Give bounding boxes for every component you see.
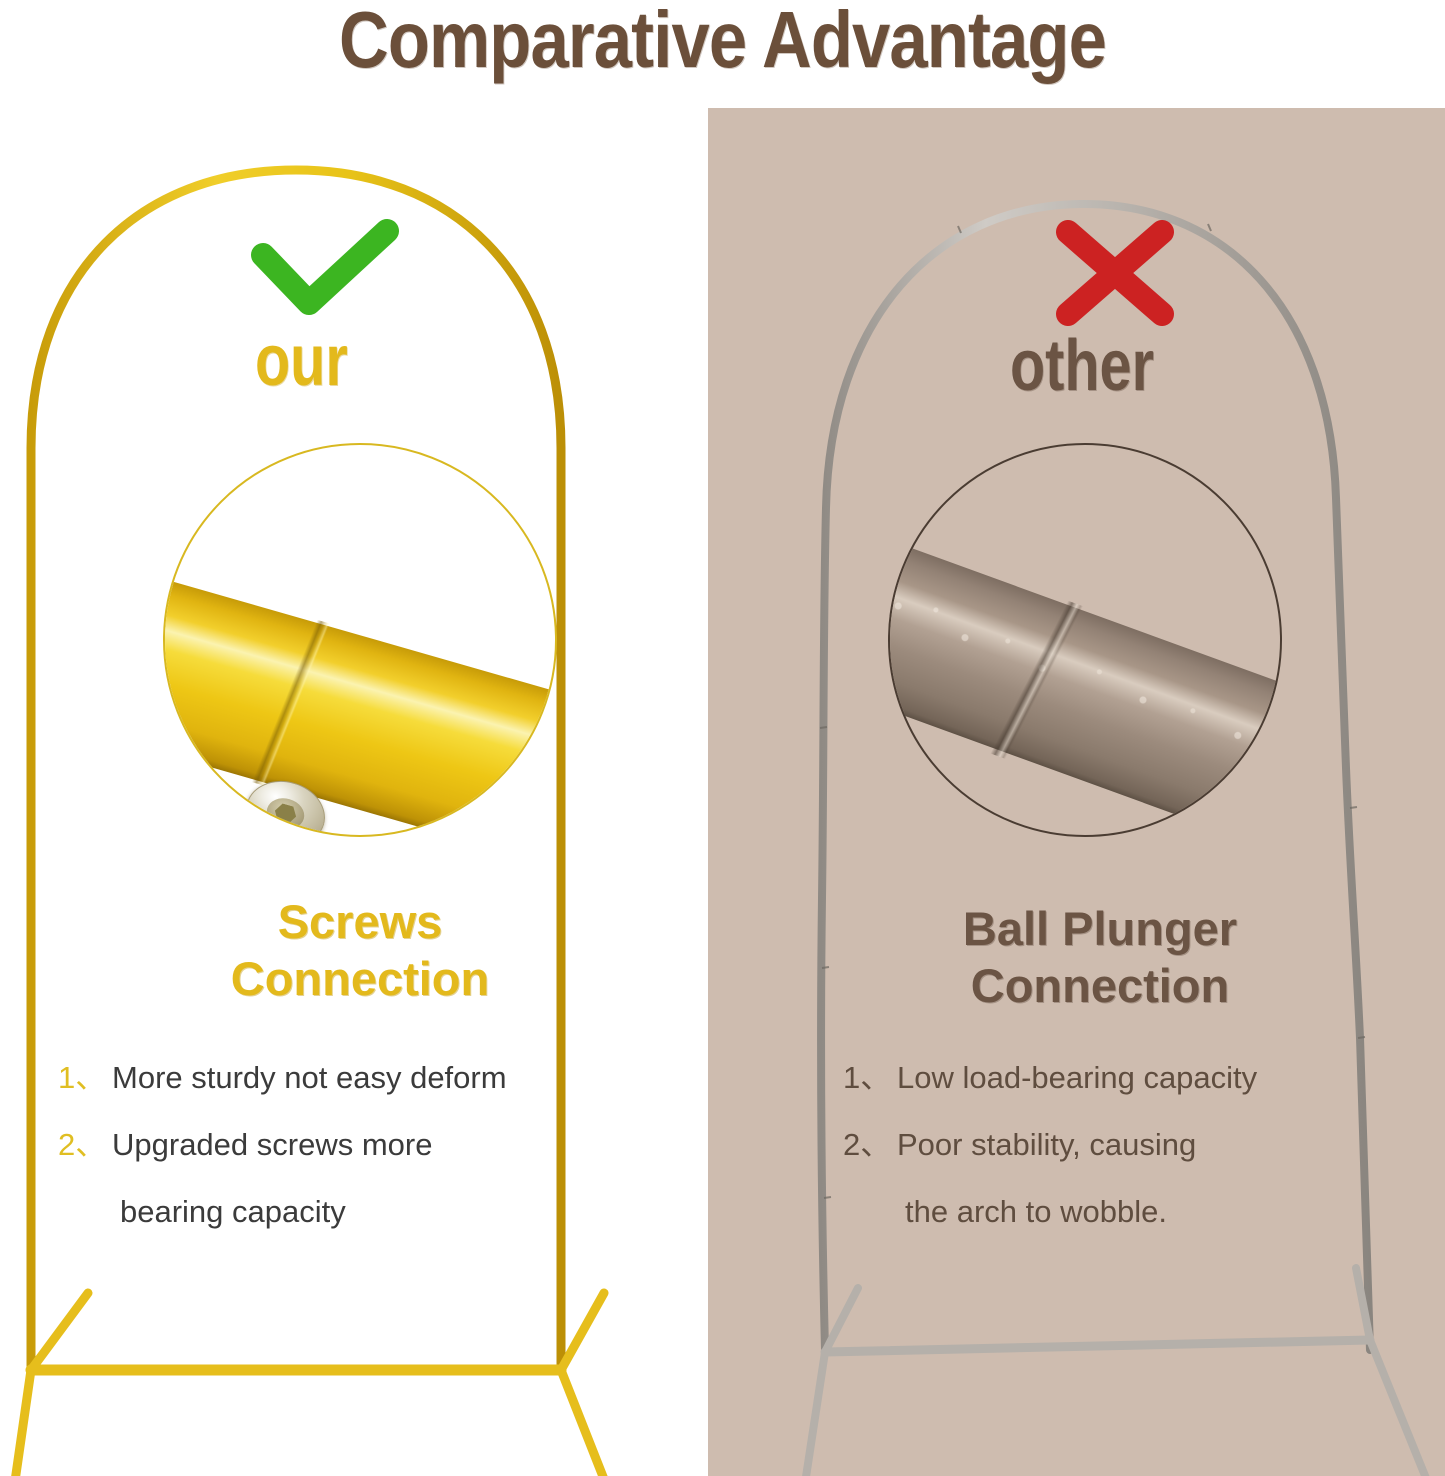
page-title: Comparative Advantage <box>101 0 1344 82</box>
list-item: 2、 Poor stability, causing <box>843 1129 1383 1160</box>
list-item-number: 2、 <box>58 1129 112 1160</box>
list-item-continuation: the arch to wobble. <box>905 1196 1383 1227</box>
red-cross-icon <box>1035 218 1195 328</box>
list-item: 1、 Low load-bearing capacity <box>843 1062 1383 1093</box>
list-item-text: More sturdy not easy deform <box>112 1062 658 1093</box>
left-benefits-list: 1、 More sturdy not easy deform 2、 Upgrad… <box>58 1062 658 1257</box>
tube-joint-seam <box>252 620 330 786</box>
green-check-icon <box>245 215 405 325</box>
screw-connection-detail-photo <box>163 443 557 837</box>
brand-label-other: other <box>1010 330 1154 402</box>
list-item-text: Upgraded screws more <box>112 1129 658 1160</box>
gray-tube <box>888 527 1282 837</box>
yellow-tube-photo <box>165 445 555 835</box>
list-item-number: 2、 <box>843 1129 897 1160</box>
list-item-text: Poor stability, causing <box>897 1129 1383 1160</box>
tube-surface-speckle <box>888 575 1282 776</box>
yellow-tube <box>163 553 557 837</box>
ball-plunger-detail-photo <box>888 443 1282 837</box>
list-item-number: 1、 <box>58 1062 112 1093</box>
brand-label-our: our <box>255 325 348 397</box>
right-drawbacks-list: 1、 Low load-bearing capacity 2、 Poor sta… <box>843 1062 1383 1257</box>
list-item-number: 1、 <box>843 1062 897 1093</box>
list-item: 2、 Upgraded screws more <box>58 1129 658 1160</box>
left-connection-heading: Screws Connection <box>80 893 640 1008</box>
right-connection-heading: Ball Plunger Connection <box>830 900 1370 1015</box>
list-item: 1、 More sturdy not easy deform <box>58 1062 658 1093</box>
comparison-infographic: Comparative Advantage <box>0 0 1445 1476</box>
list-item-text: Low load-bearing capacity <box>897 1062 1383 1093</box>
gray-tube-photo <box>890 445 1280 835</box>
list-item-continuation: bearing capacity <box>120 1196 658 1227</box>
